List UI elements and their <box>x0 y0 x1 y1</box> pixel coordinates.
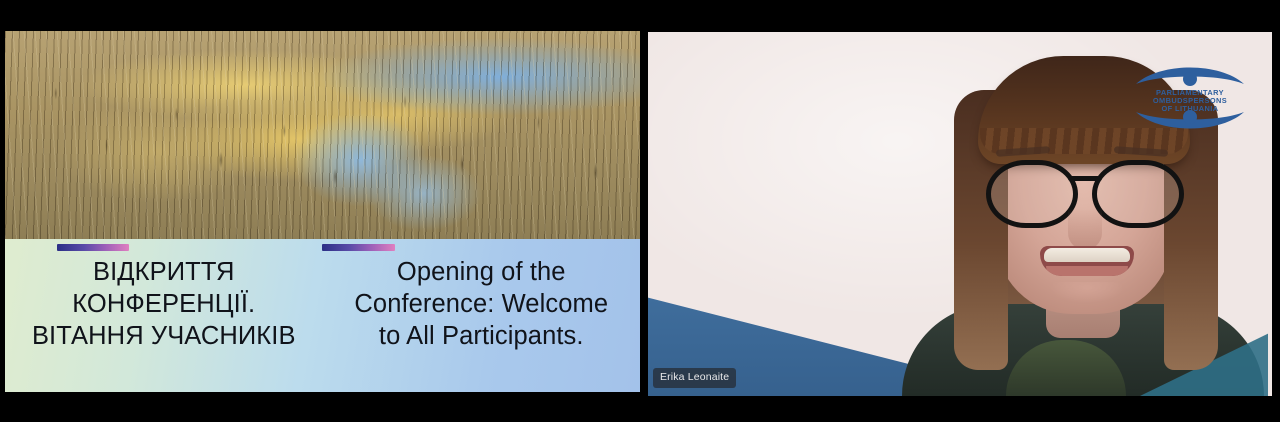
participant-name-label: Erika Leonaite <box>653 368 736 388</box>
video-conference-stage: ВІДКРИТТЯ КОНФЕРЕНЦІЇ. ВІТАННЯ УЧАСНИКІВ… <box>0 0 1280 422</box>
mouth <box>1040 246 1134 276</box>
slide-line-en-2: Conference: Welcome <box>354 288 608 320</box>
slide-line-en-3: to All Participants. <box>379 320 584 352</box>
slide-line-en-1: Opening of the <box>397 256 566 288</box>
wheat-heads-texture <box>5 31 640 239</box>
slide-caption-panel: ВІДКРИТТЯ КОНФЕРЕНЦІЇ. ВІТАННЯ УЧАСНИКІВ… <box>5 239 640 392</box>
svg-text:OF LITHUANIA: OF LITHUANIA <box>1162 104 1219 113</box>
speaker-webcam-tile[interactable]: PARLIAMENTARY OMBUDSPERSONS OF LITHUANIA… <box>648 32 1272 396</box>
lens-right <box>1092 160 1184 228</box>
slide-line-uk-2: КОНФЕРЕНЦІЇ. <box>72 288 255 320</box>
collar-highlight <box>1006 340 1126 396</box>
accent-bars <box>5 244 640 253</box>
shared-screen-tile[interactable]: ВІДКРИТТЯ КОНФЕРЕНЦІЇ. ВІТАННЯ УЧАСНИКІВ… <box>5 31 640 392</box>
slide-text-ukrainian: ВІДКРИТТЯ КОНФЕРЕНЦІЇ. ВІТАННЯ УЧАСНИКІВ <box>5 256 323 392</box>
slide-photo-flag-in-wheat-field <box>5 31 640 239</box>
slide-text-english: Opening of the Conference: Welcome to Al… <box>323 256 641 392</box>
slide-line-uk-3: ВІТАННЯ УЧАСНИКІВ <box>32 320 296 352</box>
lens-left <box>986 160 1078 228</box>
glasses-bridge <box>1068 176 1102 181</box>
slide-caption-columns: ВІДКРИТТЯ КОНФЕРЕНЦІЇ. ВІТАННЯ УЧАСНИКІВ… <box>5 256 640 392</box>
lower-lip <box>1046 266 1128 276</box>
nose <box>1068 208 1102 250</box>
accent-bar-right <box>322 244 395 251</box>
teeth <box>1044 248 1130 262</box>
chin-highlight <box>1044 282 1130 312</box>
parliamentary-ombudspersons-of-lithuania-logo: PARLIAMENTARY OMBUDSPERSONS OF LITHUANIA <box>1130 54 1250 142</box>
accent-bar-left <box>57 244 129 251</box>
slide-line-uk-1: ВІДКРИТТЯ <box>93 256 234 288</box>
